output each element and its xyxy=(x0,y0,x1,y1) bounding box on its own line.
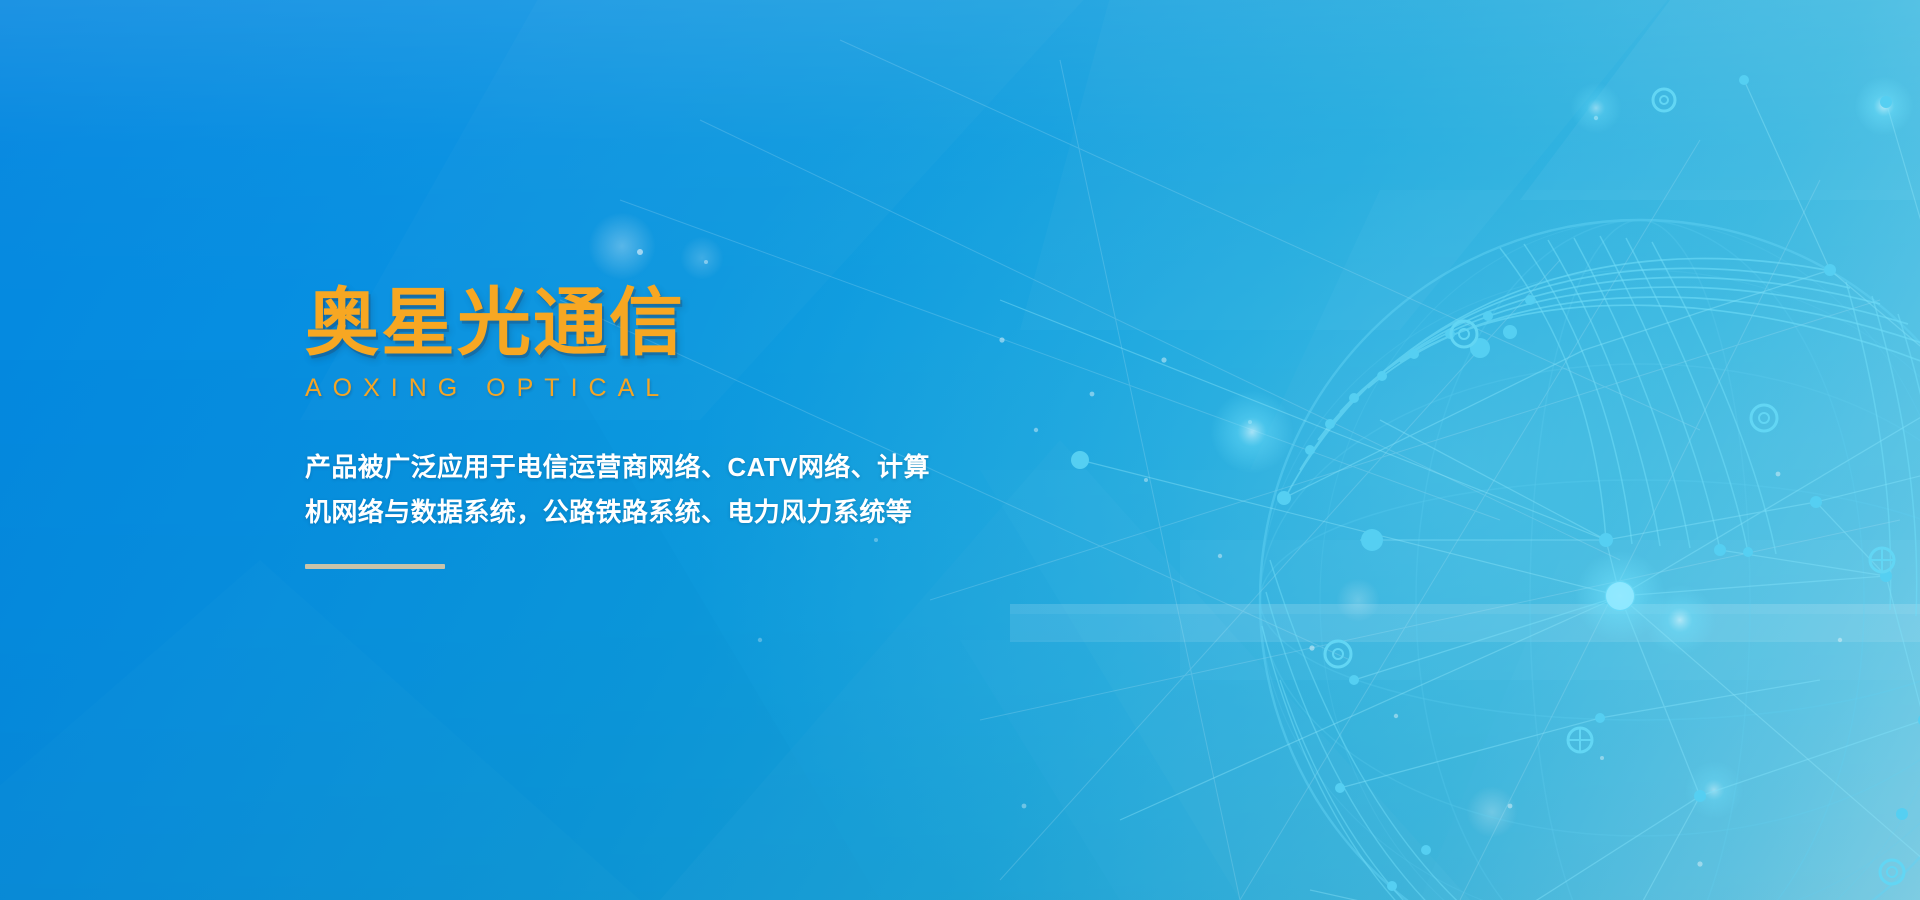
hero-banner: 奥星光通信 AOXING OPTICAL 产品被广泛应用于电信运营商网络、CAT… xyxy=(0,0,1920,900)
accent-divider xyxy=(305,564,445,569)
banner-description: 产品被广泛应用于电信运营商网络、CATV网络、计算机网络与数据系统，公路铁路系统… xyxy=(305,445,945,534)
brand-title: 奥星光通信 xyxy=(305,285,965,362)
brand-subtitle: AOXING OPTICAL xyxy=(305,374,965,403)
banner-content: 奥星光通信 AOXING OPTICAL 产品被广泛应用于电信运营商网络、CAT… xyxy=(305,285,965,569)
